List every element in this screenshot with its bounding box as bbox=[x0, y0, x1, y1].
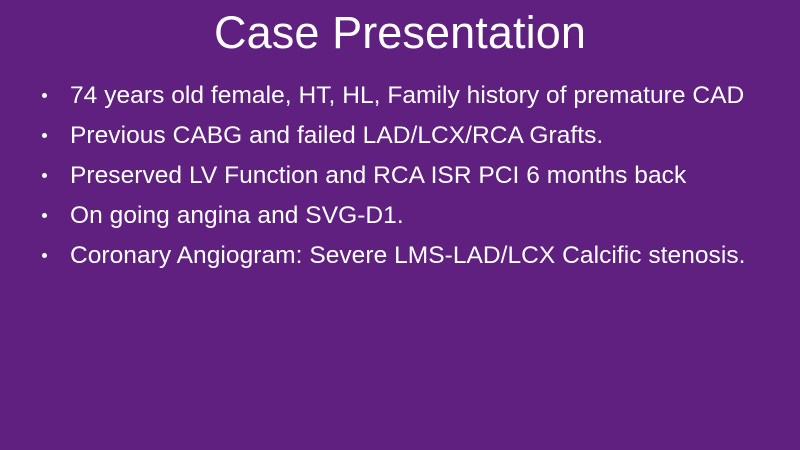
page-title: Case Presentation bbox=[0, 6, 800, 60]
list-item: On going angina and SVG-D1. bbox=[30, 196, 778, 236]
bullet-point-icon bbox=[42, 93, 47, 98]
bullet-list: 74 years old female, HT, HL, Family hist… bbox=[30, 76, 778, 276]
bullet-point-icon bbox=[42, 253, 47, 258]
list-item: Preserved LV Function and RCA ISR PCI 6 … bbox=[30, 156, 778, 196]
list-item-label: Preserved LV Function and RCA ISR PCI 6 … bbox=[70, 156, 686, 196]
list-item-label: Previous CABG and failed LAD/LCX/RCA Gra… bbox=[70, 116, 603, 156]
presentation-slide: Case Presentation 74 years old female, H… bbox=[0, 0, 800, 450]
bullet-point-icon bbox=[42, 173, 47, 178]
list-item-label: Coronary Angiogram: Severe LMS-LAD/LCX C… bbox=[70, 236, 746, 276]
bullet-point-icon bbox=[42, 213, 47, 218]
list-item-label: On going angina and SVG-D1. bbox=[70, 196, 404, 236]
list-item-label: 74 years old female, HT, HL, Family hist… bbox=[70, 76, 744, 116]
list-item: Coronary Angiogram: Severe LMS-LAD/LCX C… bbox=[30, 236, 778, 276]
list-item: 74 years old female, HT, HL, Family hist… bbox=[30, 76, 778, 116]
list-item: Previous CABG and failed LAD/LCX/RCA Gra… bbox=[30, 116, 778, 156]
bullet-point-icon bbox=[42, 133, 47, 138]
